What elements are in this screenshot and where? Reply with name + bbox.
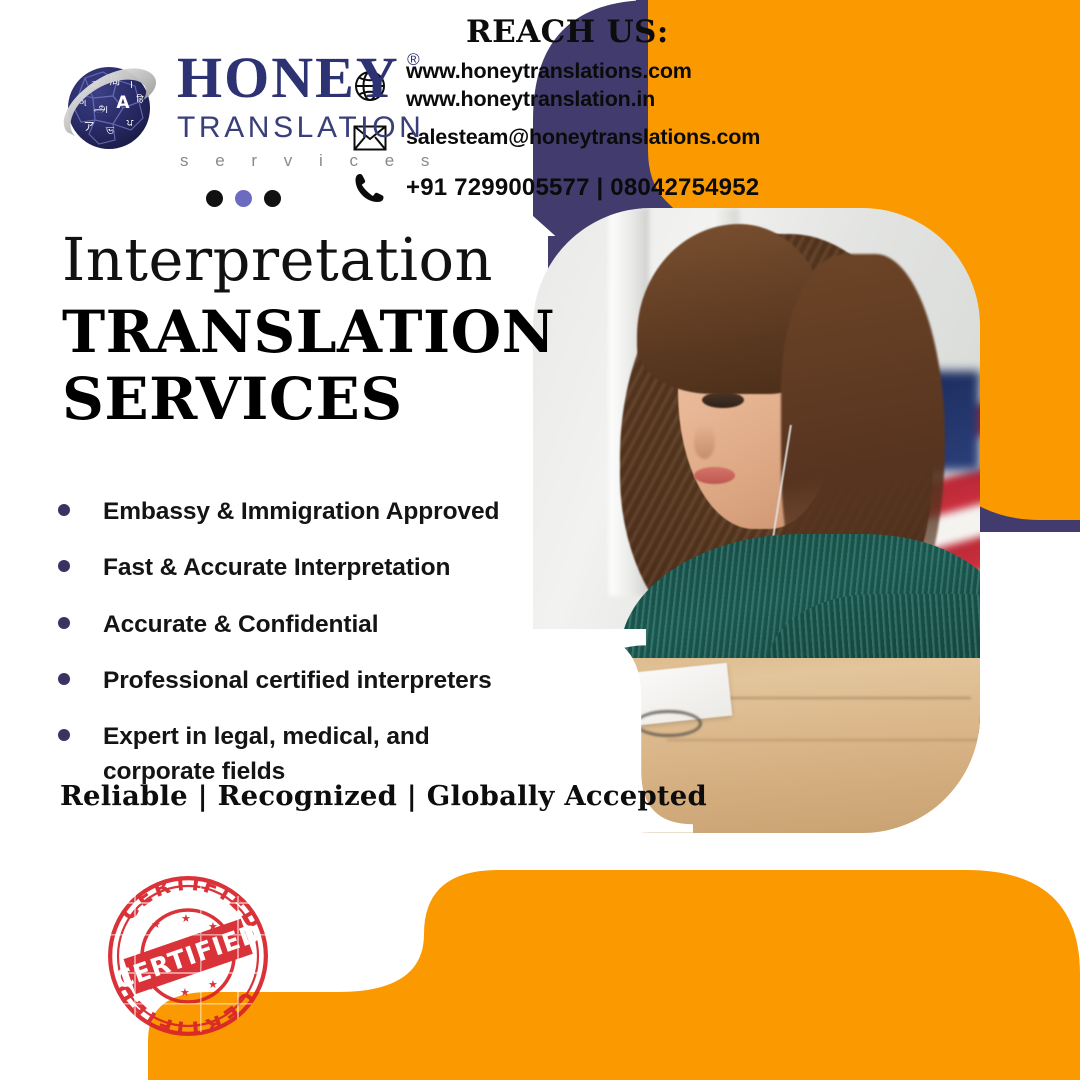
logo-primary-name: HONEY® [177, 50, 400, 106]
logo-tertiary-name: s e r v i c e s [180, 151, 440, 171]
list-item: Embassy & Immigration Approved [58, 494, 528, 529]
brand-logo[interactable]: ক 周 । ગ அ A हि ア ভ ਪ HONEY® TRANSLATION … [55, 46, 440, 171]
svg-text:அ: அ [94, 101, 108, 116]
svg-text:★: ★ [208, 979, 218, 991]
interpreter-photo [533, 208, 980, 833]
list-item: Fast & Accurate Interpretation [58, 550, 528, 585]
contact-email: salesteam@honeytranslations.com [406, 124, 760, 152]
list-item-label: Professional certified interpreters [103, 663, 492, 698]
globe-languages-icon: ক 周 । ગ அ A हि ア ভ ਪ [55, 50, 163, 158]
certified-stamp-icon: CERTIFIED CERTIFIED ★ ★ ★ ★ ★ ★ CERTIFIE… [104, 872, 272, 1040]
accent-dot-1 [206, 190, 223, 207]
headline-script-line: Interpretation [62, 230, 555, 289]
headline-bold-line-2: SERVICES [62, 366, 555, 433]
headline-bold-line-1: TRANSLATION [62, 299, 555, 366]
tagline: Reliable | Recognized | Globally Accepte… [60, 780, 707, 812]
svg-text:★: ★ [180, 987, 190, 999]
contact-website-lines: www.honeytranslations.com www.honeytrans… [406, 58, 692, 113]
list-item-label: Expert in legal, medical, and corporate … [103, 719, 463, 790]
bullet-icon [58, 560, 70, 572]
accent-dot-3 [264, 190, 281, 207]
contact-panel-background [148, 870, 1080, 1080]
bullet-icon [58, 504, 70, 516]
contact-phone: +91 7299005577 | 08042754952 [406, 173, 759, 204]
svg-text:★: ★ [181, 913, 191, 925]
logo-secondary-name: TRANSLATION [177, 111, 440, 145]
bullet-icon [58, 673, 70, 685]
svg-text:ア: ア [84, 120, 95, 133]
svg-text:ভ: ভ [105, 124, 115, 137]
svg-text:।: । [129, 78, 133, 91]
headline-bold-lines: TRANSLATION SERVICES [62, 299, 555, 434]
svg-text:हि: हि [136, 93, 143, 105]
contact-title: REACH US: [466, 14, 926, 50]
list-item: Professional certified interpreters [58, 663, 528, 698]
list-item: Accurate & Confidential [58, 607, 528, 642]
registered-trademark-icon: ® [407, 52, 422, 68]
website-line-1: www.honeytranslations.com [406, 59, 692, 83]
bullet-icon [58, 729, 70, 741]
page-title: Interpretation TRANSLATION SERVICES [62, 230, 555, 434]
phone-icon [350, 168, 390, 208]
accent-dot-2 [235, 190, 252, 207]
list-item-label: Fast & Accurate Interpretation [103, 550, 450, 585]
bullet-icon [58, 617, 70, 629]
svg-text:ਪ: ਪ [126, 118, 134, 129]
feature-list: Embassy & Immigration Approved Fast & Ac… [58, 494, 528, 811]
contact-row-phone[interactable]: +91 7299005577 | 08042754952 [350, 168, 759, 208]
svg-text:A: A [116, 93, 130, 113]
website-line-2: www.honeytranslation.in [406, 87, 655, 111]
list-item-label: Accurate & Confidential [103, 607, 378, 642]
list-item: Expert in legal, medical, and corporate … [58, 719, 528, 790]
accent-dots [206, 190, 281, 207]
list-item-label: Embassy & Immigration Approved [103, 494, 499, 529]
svg-text:★: ★ [151, 919, 161, 931]
poster-canvas: ক 周 । ગ அ A हि ア ভ ਪ HONEY® TRANSLATION … [0, 0, 1080, 1080]
